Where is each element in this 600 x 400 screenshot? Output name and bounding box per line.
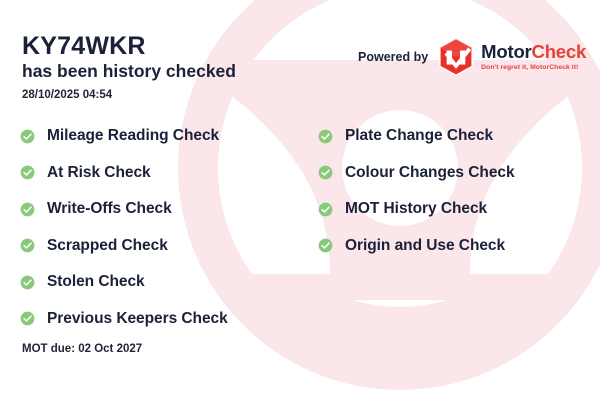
check-label: MOT History Check [345, 200, 487, 218]
checks-column-right: Plate Change Check Colour Changes Check … [318, 118, 515, 264]
check-circle-icon [318, 165, 333, 180]
mot-due-text: MOT due: 02 Oct 2027 [22, 343, 142, 355]
check-label: Plate Change Check [345, 127, 493, 145]
check-item: Previous Keepers Check [20, 301, 228, 338]
check-circle-icon [318, 238, 333, 253]
brand-tagline: Don't regret it, MotorCheck it! [481, 64, 586, 71]
check-timestamp: 28/10/2025 04:54 [22, 89, 236, 101]
brand-name-primary: Motor [481, 41, 531, 62]
check-label: Mileage Reading Check [47, 127, 219, 145]
check-label: Colour Changes Check [345, 164, 515, 182]
check-item: Plate Change Check [318, 118, 515, 155]
powered-by-brand: Powered by MotorCheck Don't regret it, M… [358, 38, 586, 76]
check-label: At Risk Check [47, 164, 151, 182]
motorcheck-hexagon-icon [438, 38, 474, 76]
check-item: MOT History Check [318, 191, 515, 228]
check-circle-icon [318, 202, 333, 217]
check-item: Colour Changes Check [318, 155, 515, 192]
history-checked-subtitle: has been history checked [22, 61, 236, 82]
brand-name-accent: Check [532, 41, 587, 62]
check-label: Previous Keepers Check [47, 310, 228, 328]
check-label: Origin and Use Check [345, 237, 505, 255]
check-item: Scrapped Check [20, 228, 228, 265]
check-circle-icon [20, 129, 35, 144]
check-item: Origin and Use Check [318, 228, 515, 265]
check-circle-icon [20, 165, 35, 180]
registration-number: KY74WKR [22, 32, 236, 60]
header-block: KY74WKR has been history checked 28/10/2… [22, 32, 236, 101]
check-item: Write-Offs Check [20, 191, 228, 228]
check-circle-icon [20, 275, 35, 290]
checks-column-left: Mileage Reading Check At Risk Check Writ… [20, 118, 228, 337]
check-circle-icon [318, 129, 333, 144]
check-circle-icon [20, 238, 35, 253]
check-item: Mileage Reading Check [20, 118, 228, 155]
history-check-banner: KY74WKR has been history checked 28/10/2… [0, 0, 600, 400]
check-circle-icon [20, 311, 35, 326]
powered-by-label: Powered by [358, 50, 428, 64]
check-item: Stolen Check [20, 264, 228, 301]
check-label: Write-Offs Check [47, 200, 172, 218]
check-label: Stolen Check [47, 273, 145, 291]
brand-wordmark: MotorCheck Don't regret it, MotorCheck i… [481, 43, 586, 72]
check-circle-icon [20, 202, 35, 217]
check-label: Scrapped Check [47, 237, 168, 255]
check-item: At Risk Check [20, 155, 228, 192]
